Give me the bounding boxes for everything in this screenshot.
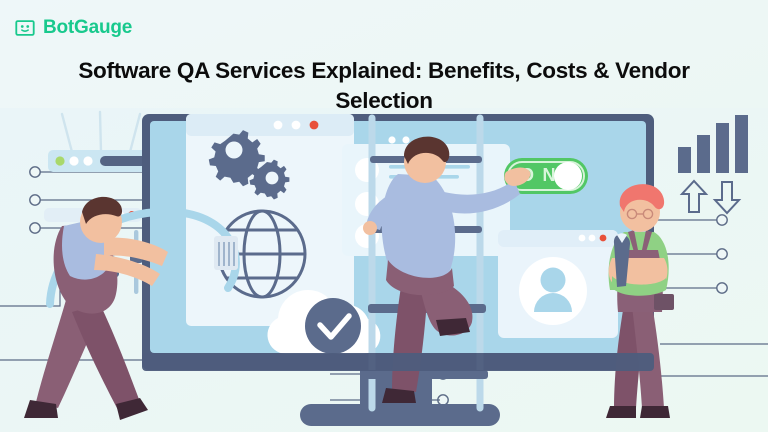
brand-name: BotGauge bbox=[43, 17, 132, 39]
brand-logo[interactable]: BotGauge bbox=[14, 17, 132, 39]
user-profile-card bbox=[498, 230, 618, 338]
monitor-bezel bbox=[142, 353, 654, 371]
page-title: Software QA Services Explained: Benefits… bbox=[0, 56, 768, 116]
hero-illustration: O N bbox=[0, 108, 768, 432]
poster-canvas: BotGauge Software QA Services Explained:… bbox=[0, 0, 768, 432]
robot-face-icon bbox=[14, 17, 36, 39]
cable-plug bbox=[214, 236, 238, 270]
user-avatar-icon bbox=[519, 257, 587, 325]
svg-text:N: N bbox=[543, 165, 556, 185]
